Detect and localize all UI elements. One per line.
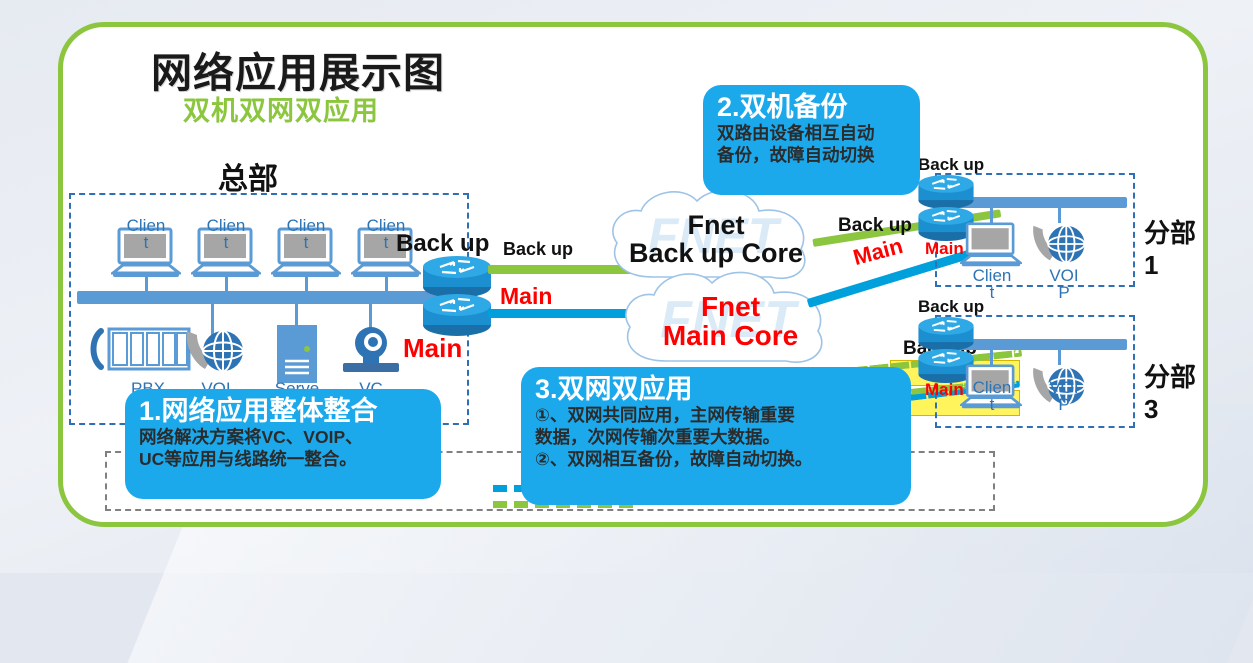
branch1-router-backup-label: Back up bbox=[918, 155, 984, 175]
hq-vc bbox=[339, 325, 403, 382]
callout-1-title: 1.网络应用整体整合 bbox=[139, 396, 427, 426]
client-label-line2: t bbox=[304, 233, 309, 252]
branch1-label: 分部1 bbox=[1144, 213, 1203, 281]
callout-1-body-line2: UC等应用与线路统一整合。 bbox=[139, 448, 427, 470]
hq-client-4-drop bbox=[385, 275, 388, 293]
callout-3[interactable]: 3.双网双应用 ①、双网共同应用，主网传输重要 数据，次网传输次重要大数据。 ②… bbox=[521, 367, 911, 505]
hq-router-main-label: Main bbox=[403, 333, 462, 364]
client-label-line2: t bbox=[224, 233, 229, 252]
voip-label-line2: P bbox=[1058, 283, 1069, 302]
globe-phone-icon bbox=[1028, 220, 1090, 268]
router-icon bbox=[420, 292, 494, 338]
callout-2-title: 2.双机备份 bbox=[717, 92, 906, 122]
hq-lan-bus bbox=[77, 291, 477, 304]
hq-main-link-label: Main bbox=[500, 283, 552, 310]
branch3-label: 分部3 bbox=[1144, 357, 1203, 425]
hq-voi bbox=[181, 325, 249, 382]
branch1-voip-label: VOI P bbox=[1038, 267, 1090, 301]
cloud-label-line1: Fnet bbox=[688, 210, 745, 240]
video-camera-icon bbox=[339, 325, 403, 377]
branch3-voip-label: VOI P bbox=[1038, 379, 1090, 413]
cloud-label-line2: Main Core bbox=[663, 320, 798, 351]
callout-3-body-line3: ②、双网相互备份，故障自动切换。 bbox=[535, 448, 897, 470]
hq-client-1-drop bbox=[145, 275, 148, 293]
callout-2-body-line1: 双路由设备相互自动 bbox=[717, 122, 906, 144]
client-label-line2: t bbox=[990, 283, 995, 302]
diagram-frame: 网络应用展示图 双机双网双应用 总部 Clien t Clien t bbox=[58, 22, 1208, 527]
hq-client-3-label: Clien t bbox=[280, 217, 332, 251]
diagram-stage: 网络应用展示图 双机双网双应用 总部 Clien t Clien t bbox=[63, 27, 1203, 522]
hq-client-2-label: Clien t bbox=[200, 217, 252, 251]
client-label-line2: t bbox=[384, 233, 389, 252]
client-label-line2: t bbox=[990, 395, 995, 414]
hq-client-3-drop bbox=[305, 275, 308, 293]
client-label-line2: t bbox=[144, 233, 149, 252]
branch3-router-main-label: Main bbox=[925, 380, 964, 400]
branch3-router-backup-label: Back up bbox=[918, 297, 984, 317]
server-icon bbox=[275, 323, 319, 385]
callout-2[interactable]: 2.双机备份 双路由设备相互自动 备份，故障自动切换 bbox=[703, 85, 920, 195]
callout-1[interactable]: 1.网络应用整体整合 网络解决方案将VC、VOIP、 UC等应用与线路统一整合。 bbox=[125, 389, 441, 499]
cloud-label-line1: Fnet bbox=[701, 291, 760, 322]
hq-label: 总部 bbox=[218, 154, 278, 198]
callout-3-body-line2: 数据，次网传输次重要大数据。 bbox=[535, 426, 897, 448]
callout-3-body-line1: ①、双网共同应用，主网传输重要 bbox=[535, 404, 897, 426]
voip-label-line2: P bbox=[1058, 395, 1069, 414]
globe-phone-icon bbox=[181, 325, 249, 377]
hq-client-2-drop bbox=[225, 275, 228, 293]
hq-server-drop bbox=[295, 303, 298, 325]
callout-1-body-line1: 网络解决方案将VC、VOIP、 bbox=[139, 426, 427, 448]
branch1-backup-link-label: Back up bbox=[838, 215, 912, 237]
callout-2-body-line2: 备份，故障自动切换 bbox=[717, 144, 906, 166]
branch3-client-label: Clien t bbox=[966, 379, 1018, 413]
hq-backup-link-label: Back up bbox=[503, 239, 573, 260]
laptop-icon bbox=[960, 222, 1022, 268]
branch1-client-label: Clien t bbox=[966, 267, 1018, 301]
hq-client-1-label: Clien t bbox=[120, 217, 172, 251]
branch1-router-main-label: Main bbox=[925, 239, 964, 259]
page-subtitle: 双机双网双应用 bbox=[183, 89, 379, 128]
callout-3-title: 3.双网双应用 bbox=[535, 374, 897, 404]
